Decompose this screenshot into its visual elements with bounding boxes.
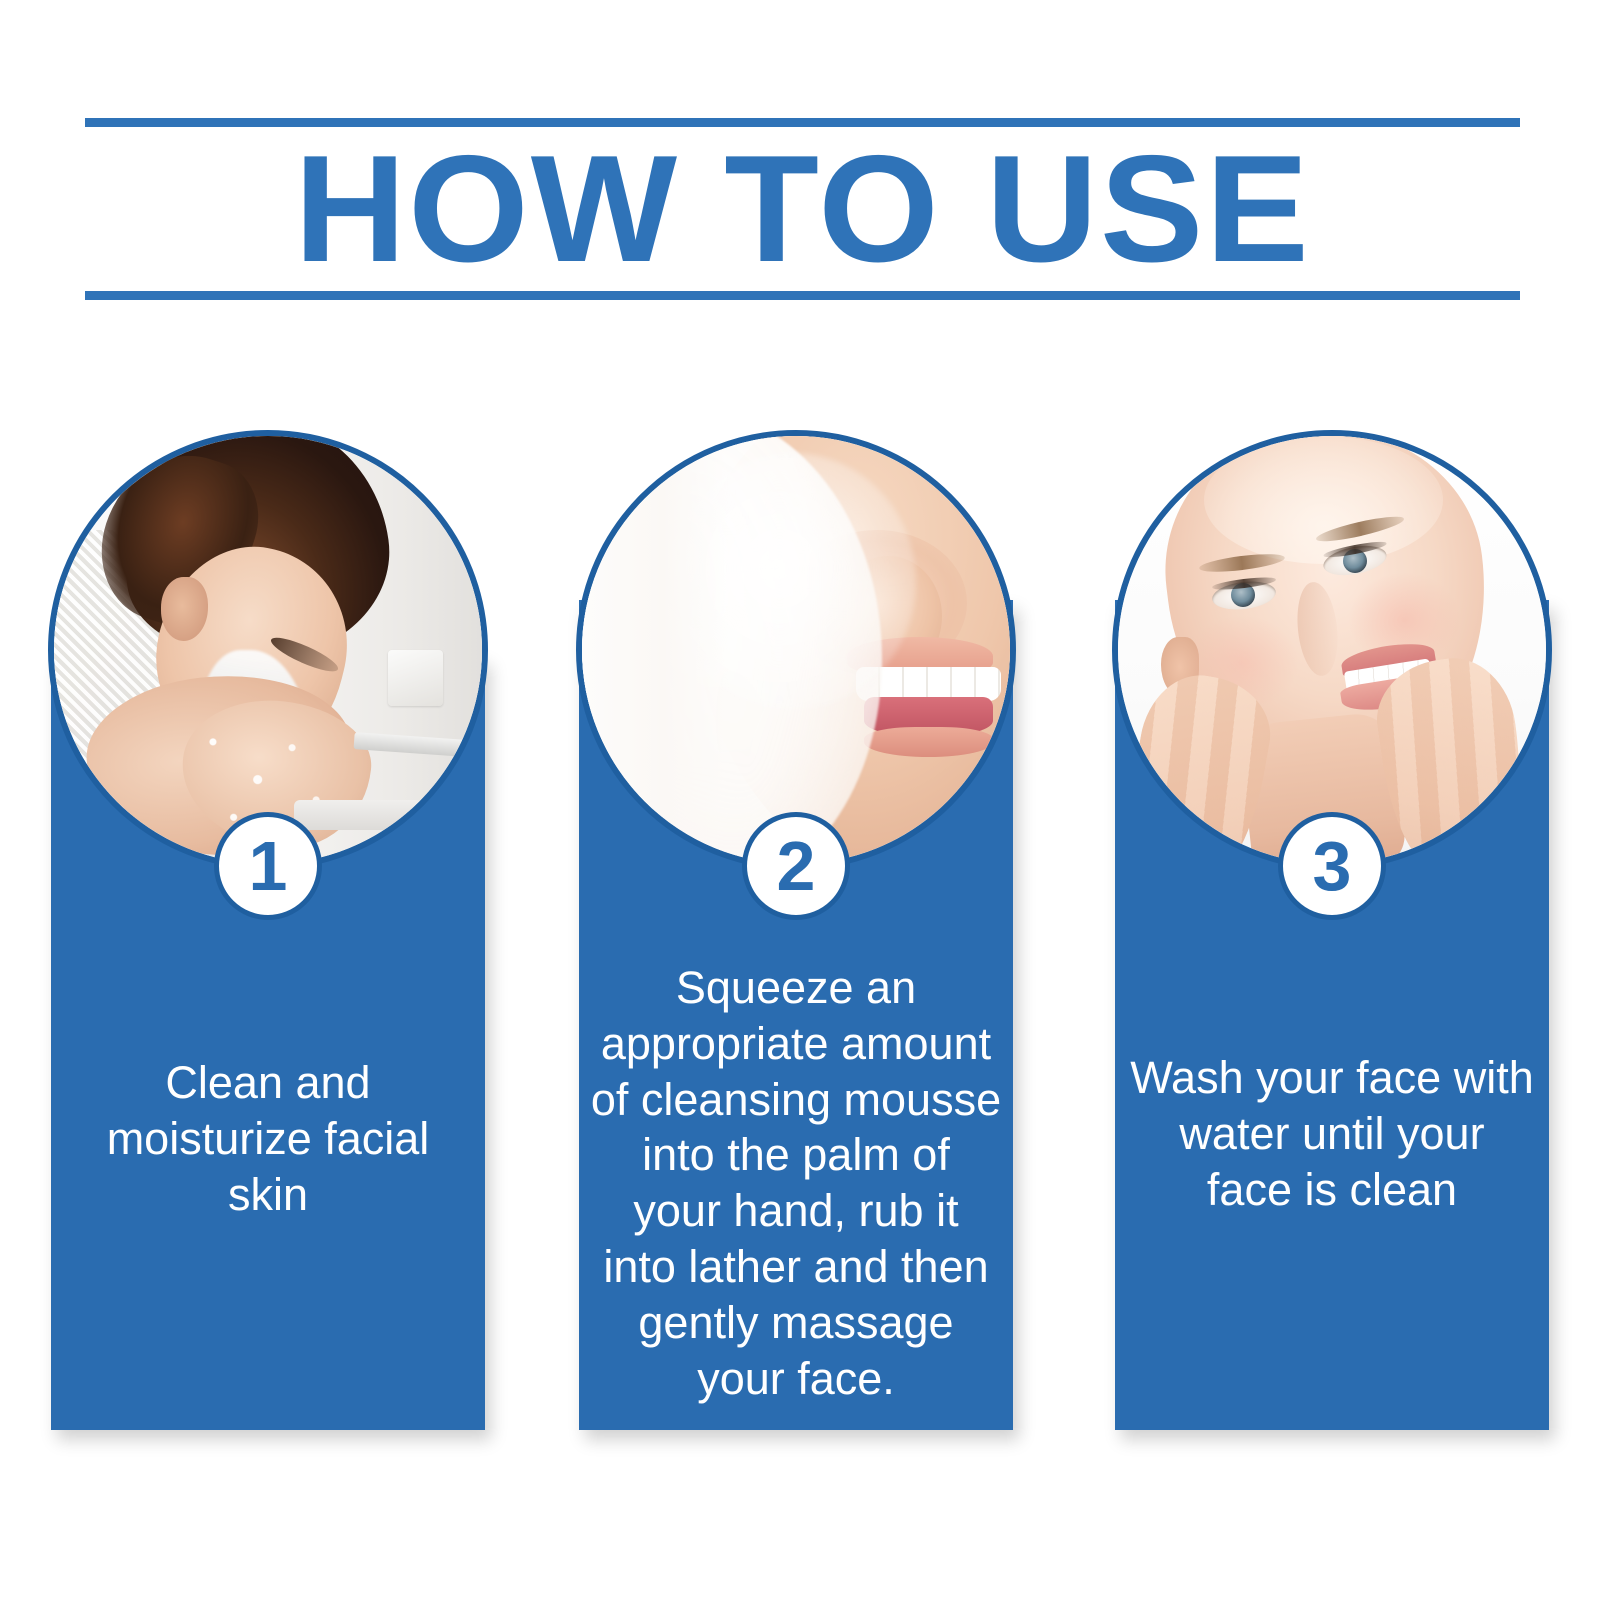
step-card-2: 2 Squeeze an appropriate amount of clean… [576,410,1016,1470]
photo-clean-skin-image [1118,436,1546,864]
step-card-1: 1 Clean and moisturize facial skin [48,410,488,1470]
step-2-number: 2 [777,831,816,901]
step-2-description: Squeeze an appropriate amount of cleansi… [586,960,1006,1406]
step-2-number-badge: 2 [742,812,850,920]
photo-face-wash-image [54,436,482,864]
page-header: HOW TO USE [85,118,1520,300]
step-1-description: Clean and moisturize facial skin [58,1055,478,1222]
steps-row: 1 Clean and moisturize facial skin 2 [0,410,1600,1470]
photo-foam-lather-image [582,436,1010,864]
step-2-photo [576,430,1016,870]
step-card-3: 3 Wash your face with water until your f… [1112,410,1552,1470]
step-3-number-badge: 3 [1278,812,1386,920]
step-3-number: 3 [1313,831,1352,901]
step-1-photo [48,430,488,870]
step-3-description: Wash your face with water until your fac… [1122,1050,1542,1217]
step-1-number: 1 [249,831,288,901]
step-1-number-badge: 1 [214,812,322,920]
page-title: HOW TO USE [71,127,1535,291]
step-3-photo [1112,430,1552,870]
header-bottom-rule [85,291,1520,300]
